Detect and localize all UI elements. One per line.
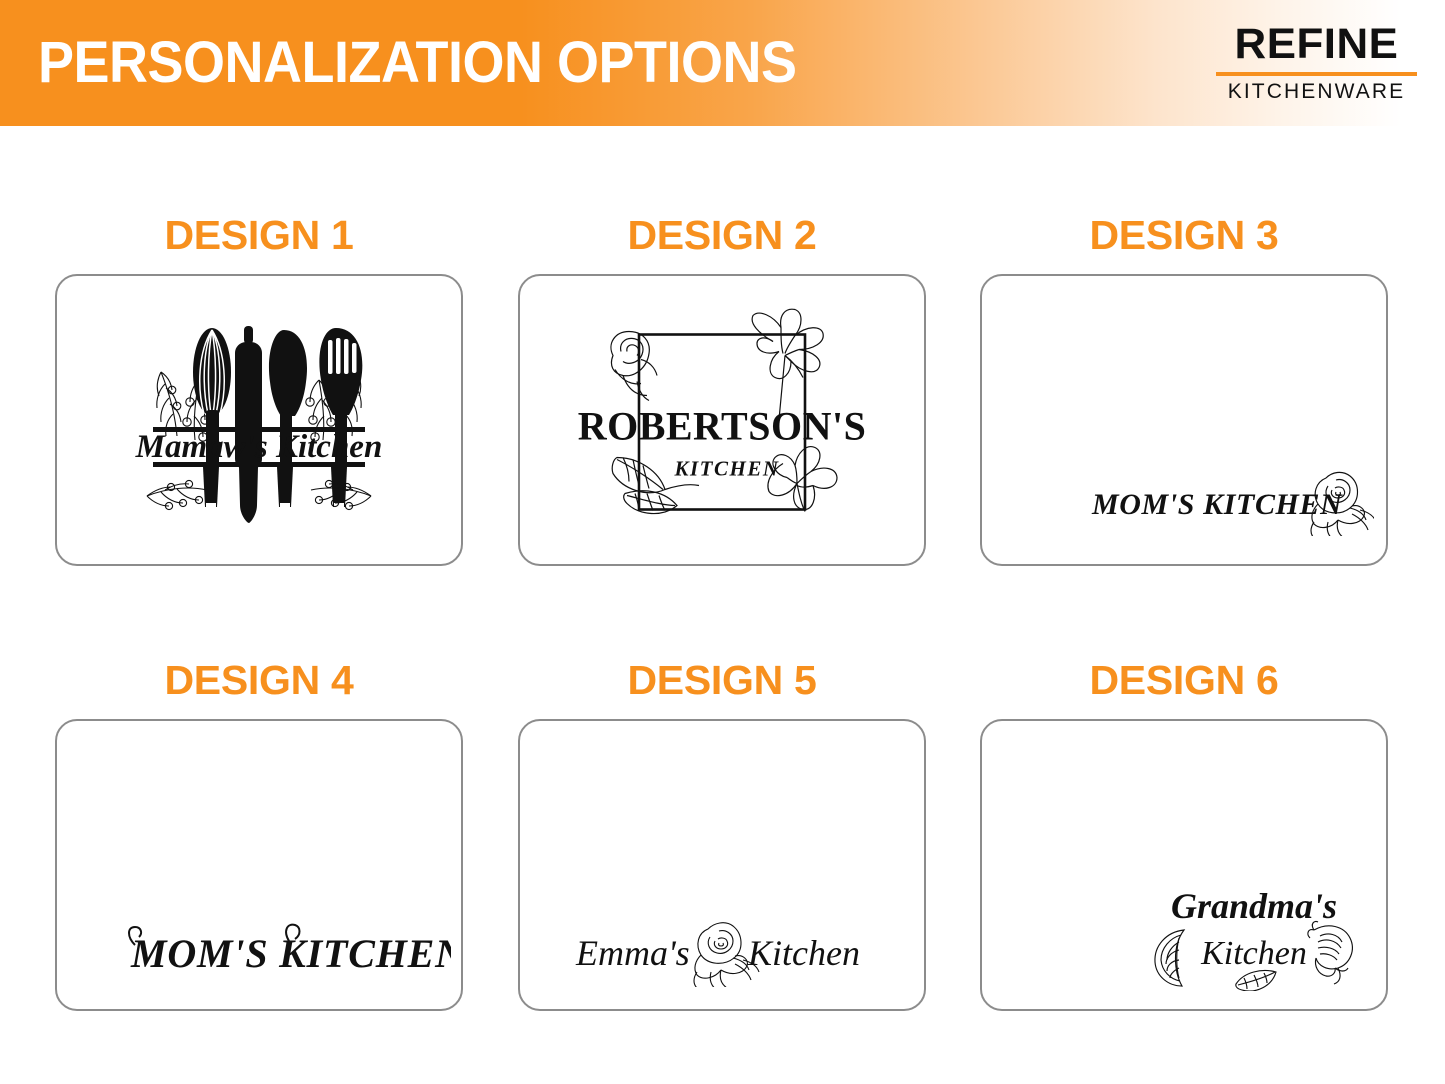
artwork-moms-kitchen-swash: MOM'S KITCHEN — [121, 915, 451, 985]
artwork-text-2-line1: ROBERTSON'S — [578, 404, 867, 449]
artwork-text-1: Mamaw's Kitchen — [135, 429, 383, 465]
artwork-text-6-line2: Kitchen — [1200, 935, 1307, 972]
artwork-text-4: MOM'S KITCHEN — [130, 931, 451, 976]
page-header: PERSONALIZATION OPTIONS REFINE KITCHENWA… — [0, 0, 1445, 126]
design-card-6[interactable]: Grandma's Kitchen — [980, 719, 1388, 1011]
artwork-robertsons-kitchen: ROBERTSON'S KITCHEN — [577, 308, 867, 533]
artwork-emmas-kitchen-rose: Emma's Kitchen — [572, 907, 872, 987]
artwork-mamaws-kitchen: Mamaw's Kitchen — [109, 310, 409, 530]
artwork-moms-kitchen-rose: MOM'S KITCHEN — [1084, 458, 1374, 536]
design-grid: DESIGN 1 — [0, 126, 1445, 1084]
design-label-2: DESIGN 2 — [518, 211, 926, 259]
design-label-5: DESIGN 5 — [518, 656, 926, 704]
design-cell-2: DESIGN 2 — [518, 211, 926, 566]
design-cell-1: DESIGN 1 — [55, 211, 463, 566]
design-cell-6: DESIGN 6 Grandma's Kitchen — [980, 656, 1388, 1011]
page-title: PERSONALIZATION OPTIONS — [38, 27, 796, 99]
artwork-text-2-line2: KITCHEN — [673, 457, 779, 481]
logo-divider-rule — [1216, 72, 1417, 76]
design-cell-5: DESIGN 5 Emma's Kitchen — [518, 656, 926, 1011]
design-cell-3: DESIGN 3 MOM'S KITCHEN — [980, 211, 1388, 566]
artwork-text-6-line1: Grandma's — [1171, 886, 1337, 926]
design-cell-4: DESIGN 4 MOM'S KITCHEN — [55, 656, 463, 1011]
design-label-4: DESIGN 4 — [55, 656, 463, 704]
design-card-5[interactable]: Emma's Kitchen — [518, 719, 926, 1011]
design-label-6: DESIGN 6 — [980, 656, 1388, 704]
design-card-1[interactable]: Mamaw's Kitchen — [55, 274, 463, 566]
design-label-3: DESIGN 3 — [980, 211, 1388, 259]
artwork-text-3: MOM'S KITCHEN — [1091, 488, 1343, 521]
artwork-text-5-line2: Kitchen — [747, 933, 860, 973]
artwork-grandmas-kitchen: Grandma's Kitchen — [1138, 876, 1368, 991]
design-card-4[interactable]: MOM'S KITCHEN — [55, 719, 463, 1011]
brand-tagline: KITCHENWARE — [1214, 80, 1419, 104]
artwork-text-5-line1: Emma's — [575, 933, 690, 973]
brand-name: REFINE — [1212, 22, 1421, 67]
brand-logo: REFINE KITCHENWARE — [1214, 22, 1419, 104]
design-card-3[interactable]: MOM'S KITCHEN — [980, 274, 1388, 566]
design-card-2[interactable]: ROBERTSON'S KITCHEN — [518, 274, 926, 566]
design-label-1: DESIGN 1 — [55, 211, 463, 259]
